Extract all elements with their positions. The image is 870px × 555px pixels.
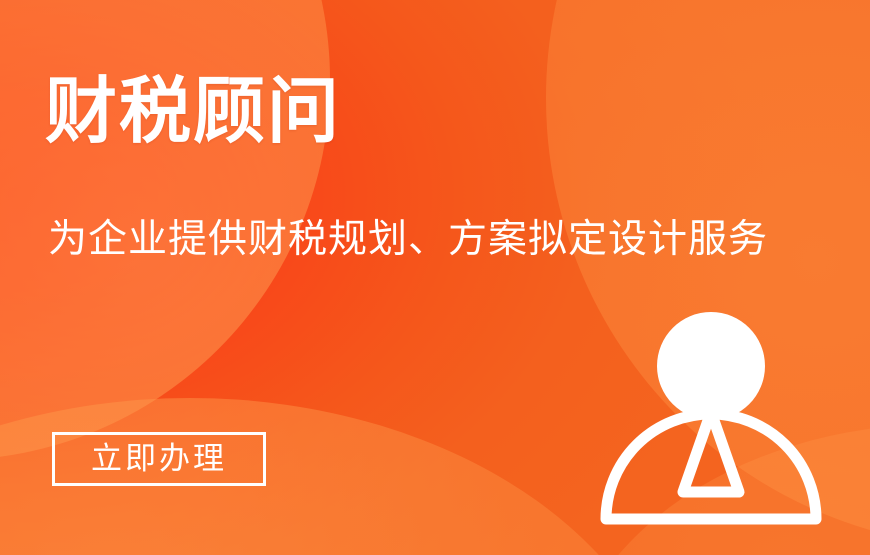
- person-tie-icon: [683, 412, 739, 492]
- person-avatar-icon: [596, 300, 828, 532]
- person-head-icon: [657, 312, 765, 420]
- banner-title: 财税顾问: [45, 76, 341, 148]
- apply-now-button[interactable]: 立即办理: [52, 432, 266, 486]
- promo-banner: 财税顾问 为企业提供财税规划、方案拟定设计服务 立即办理: [0, 0, 870, 555]
- banner-content: 财税顾问 为企业提供财税规划、方案拟定设计服务 立即办理: [0, 0, 870, 555]
- banner-subtitle: 为企业提供财税规划、方案拟定设计服务: [48, 216, 768, 265]
- person-body-icon: [606, 414, 816, 519]
